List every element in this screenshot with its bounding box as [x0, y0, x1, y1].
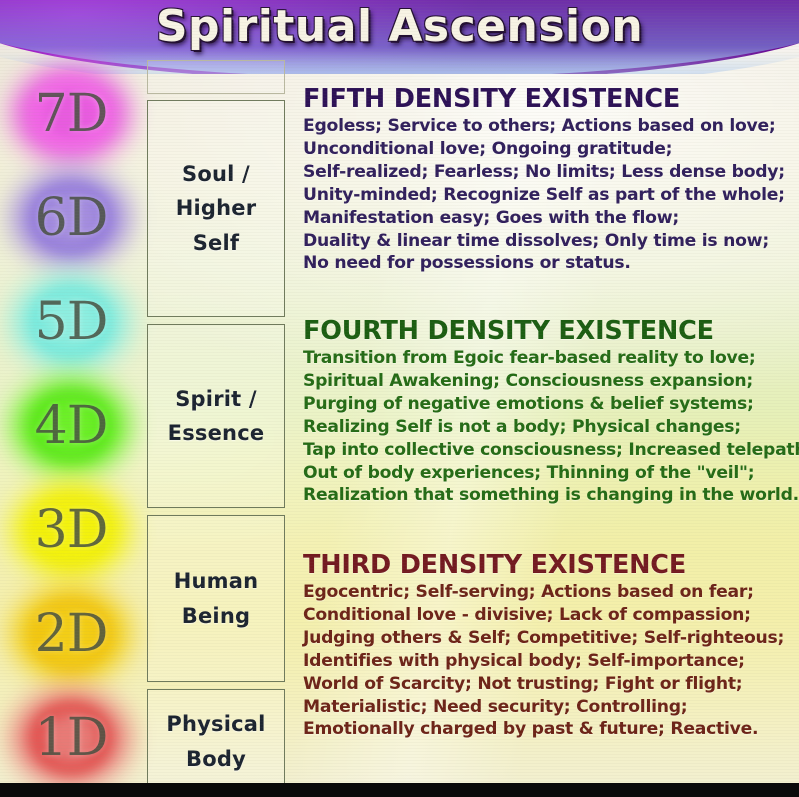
box-stub-empty: [147, 60, 285, 94]
aspect-box-line: Being: [182, 599, 250, 633]
spiritual-ascension-poster: Spiritual Ascension 7D 6D 5D 4D 3D: [0, 0, 799, 797]
aspect-box-line: Human: [174, 564, 259, 598]
section-fourth-density: FOURTH DENSITY EXISTENCE Transition from…: [303, 318, 799, 507]
section-line: Realization that something is changing i…: [303, 484, 799, 507]
section-line: Manifestation easy; Goes with the flow;: [303, 207, 799, 230]
section-line: Realizing Self is not a body; Physical c…: [303, 416, 799, 439]
section-body: Egoless; Service to others; Actions base…: [303, 115, 799, 276]
section-line: Duality & linear time dissolves; Only ti…: [303, 230, 799, 253]
aspect-box-soul-higher-self: Soul / Higher Self: [147, 100, 285, 317]
section-line: Out of body experiences; Thinning of the…: [303, 462, 799, 485]
section-heading: FIFTH DENSITY EXISTENCE: [303, 86, 799, 113]
aspect-box-line: Body: [186, 742, 246, 776]
aspect-box-line: Soul /: [182, 157, 250, 191]
section-line: Judging others & Self; Competitive; Self…: [303, 627, 799, 650]
dimension-item-5d: 5D: [0, 270, 142, 374]
section-line: World of Scarcity; Not trusting; Fight o…: [303, 673, 799, 696]
dimension-item-7d: 7D: [0, 62, 142, 166]
dimension-label: 5D: [35, 292, 108, 352]
dimension-item-2d: 2D: [0, 582, 142, 686]
dimension-label: 1D: [35, 708, 108, 768]
dimension-item-1d: 1D: [0, 686, 142, 790]
section-fifth-density: FIFTH DENSITY EXISTENCE Egoless; Service…: [303, 86, 799, 275]
section-line: Transition from Egoic fear-based reality…: [303, 347, 799, 370]
section-line: Purging of negative emotions & belief sy…: [303, 393, 799, 416]
section-line: Egocentric; Self-serving; Actions based …: [303, 581, 799, 604]
section-heading: THIRD DENSITY EXISTENCE: [303, 552, 799, 579]
section-line: Unconditional love; Ongoing gratitude;: [303, 138, 799, 161]
aspect-box-physical-body: Physical Body: [147, 689, 285, 793]
aspect-box-human-being: Human Being: [147, 515, 285, 682]
dimension-item-4d: 4D: [0, 374, 142, 478]
section-line: Tap into collective consciousness; Incre…: [303, 439, 799, 462]
section-line: Emotionally charged by past & future; Re…: [303, 718, 799, 741]
section-line: Self-realized; Fearless; No limits; Less…: [303, 161, 799, 184]
bottom-black-bar: [0, 783, 799, 797]
dimension-label: 2D: [35, 604, 108, 664]
aspect-box-line: Higher: [176, 191, 257, 225]
aspect-box-line: Physical: [166, 707, 265, 741]
dimension-item-3d: 3D: [0, 478, 142, 582]
dimension-label: 7D: [35, 84, 108, 144]
section-line: Materialistic; Need security; Controllin…: [303, 696, 799, 719]
section-line: Unity-minded; Recognize Self as part of …: [303, 184, 799, 207]
aspect-box-line: Essence: [168, 416, 265, 450]
dimension-label: 6D: [35, 188, 108, 248]
section-line: No need for possessions or status.: [303, 252, 799, 275]
dimension-item-6d: 6D: [0, 166, 142, 270]
section-line: Conditional love - divisive; Lack of com…: [303, 604, 799, 627]
section-body: Egocentric; Self-serving; Actions based …: [303, 581, 799, 742]
section-third-density: THIRD DENSITY EXISTENCE Egocentric; Self…: [303, 552, 799, 741]
dimension-column: 7D 6D 5D 4D 3D 2D 1D: [0, 62, 142, 782]
aspect-box-line: Self: [193, 226, 240, 260]
density-sections: FIFTH DENSITY EXISTENCE Egoless; Service…: [303, 0, 799, 797]
section-line: Identifies with physical body; Self-impo…: [303, 650, 799, 673]
dimension-label: 3D: [35, 500, 108, 560]
section-heading: FOURTH DENSITY EXISTENCE: [303, 318, 799, 345]
page-title: Spiritual Ascension: [0, 1, 799, 52]
aspect-box-spirit-essence: Spirit / Essence: [147, 324, 285, 508]
section-body: Transition from Egoic fear-based reality…: [303, 347, 799, 508]
section-line: Spiritual Awakening; Consciousness expan…: [303, 370, 799, 393]
dimension-label: 4D: [35, 396, 108, 456]
aspect-box-line: Spirit /: [175, 382, 257, 416]
section-line: Egoless; Service to others; Actions base…: [303, 115, 799, 138]
